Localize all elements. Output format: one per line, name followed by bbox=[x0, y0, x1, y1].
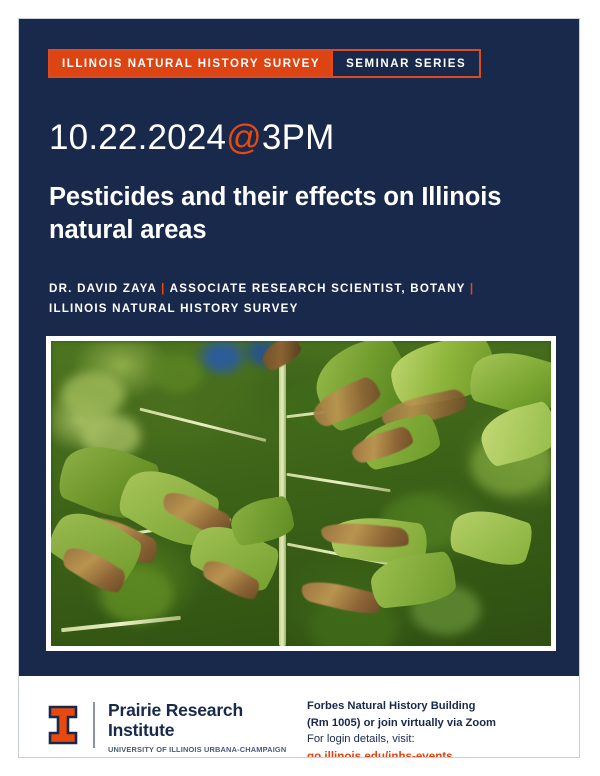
event-date-time: 10.22.2024@3PM bbox=[49, 118, 334, 158]
pesticide-damaged-foliage-photo bbox=[51, 341, 551, 646]
institute-name-line-2: Institute bbox=[108, 720, 286, 740]
header-banner: ILLINOIS NATURAL HISTORY SURVEY SEMINAR … bbox=[48, 49, 481, 78]
logo-divider bbox=[93, 702, 95, 748]
at-symbol: @ bbox=[226, 118, 262, 157]
banner-series-label: SEMINAR SERIES bbox=[331, 51, 479, 76]
venue-room-and-zoom: (Rm 1005) or join virtually via Zoom bbox=[307, 715, 496, 732]
university-tagline: UNIVERSITY OF ILLINOIS URBANA-CHAMPAIGN bbox=[108, 745, 286, 754]
illinois-block-i-icon bbox=[47, 705, 79, 745]
prairie-research-institute-logo: Prairie Research Institute UNIVERSITY OF… bbox=[47, 700, 286, 754]
venue-building: Forbes Natural History Building bbox=[307, 698, 496, 715]
photo-bokeh-blob bbox=[206, 344, 240, 370]
event-time: 3PM bbox=[262, 118, 335, 157]
speaker-separator-1: | bbox=[161, 282, 165, 295]
event-date: 10.22.2024 bbox=[49, 118, 226, 157]
speaker-name: DR. DAVID ZAYA bbox=[49, 282, 157, 295]
poster-footer: Prairie Research Institute UNIVERSITY OF… bbox=[19, 676, 579, 757]
seminar-poster: ILLINOIS NATURAL HISTORY SURVEY SEMINAR … bbox=[18, 18, 580, 758]
seminar-title: Pesticides and their effects on Illinois… bbox=[49, 181, 539, 246]
banner-organization: ILLINOIS NATURAL HISTORY SURVEY bbox=[50, 51, 331, 76]
event-location-details: Forbes Natural History Building (Rm 1005… bbox=[307, 698, 496, 758]
events-url-link[interactable]: go.illinois.edu/inhs-events bbox=[307, 748, 496, 758]
institute-name-line-1: Prairie Research bbox=[108, 700, 286, 720]
login-details-note: For login details, visit: bbox=[307, 731, 496, 748]
speaker-affiliation: ILLINOIS NATURAL HISTORY SURVEY bbox=[49, 302, 299, 315]
photo-bokeh-blob bbox=[61, 372, 125, 418]
photo-bokeh-blob bbox=[151, 353, 203, 393]
speaker-role: ASSOCIATE RESEARCH SCIENTIST, BOTANY bbox=[170, 282, 466, 295]
logo-wordmark: Prairie Research Institute UNIVERSITY OF… bbox=[108, 700, 286, 754]
photo-frame bbox=[46, 336, 556, 651]
speaker-separator-2: | bbox=[470, 282, 474, 295]
speaker-credentials: DR. DAVID ZAYA | ASSOCIATE RESEARCH SCIE… bbox=[49, 279, 549, 319]
